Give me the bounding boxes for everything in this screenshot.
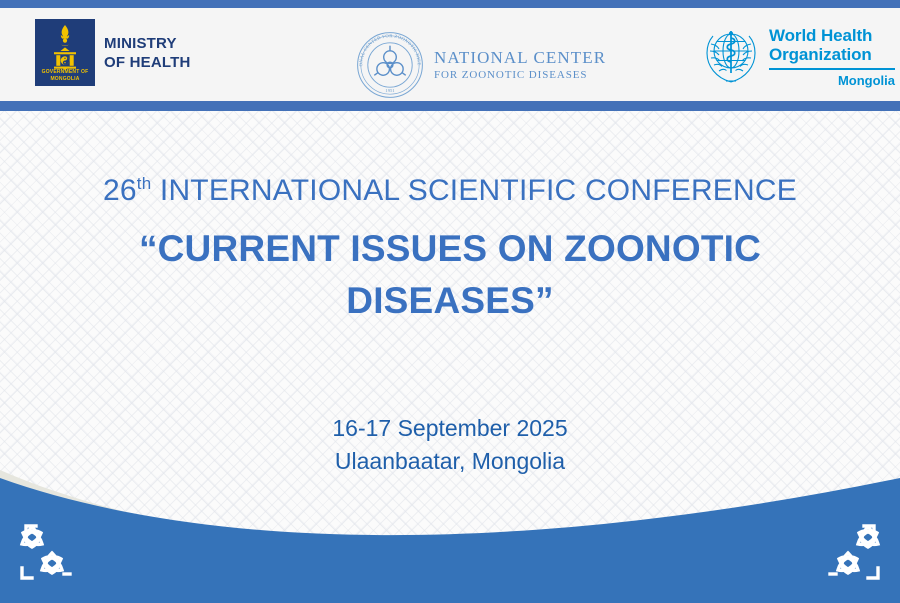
event-details-block: 16-17 September 2025 Ulaanbaatar, Mongol… — [0, 412, 900, 478]
who-country: Mongolia — [769, 73, 895, 88]
conference-number: 26 — [103, 174, 137, 207]
who-wordmark: World Health Organization Mongolia — [769, 24, 895, 88]
government-of-mongolia-emblem: GOVERNMENT OFMONGOLIA — [35, 19, 95, 86]
soyombo-icon — [35, 22, 95, 72]
who-mongolia-logo: World Health Organization Mongolia — [700, 24, 895, 88]
conference-theme: “CURRENT ISSUES ON ZOONOTIC DISEASES” — [0, 223, 900, 327]
triskelion-knot-icon — [14, 520, 94, 590]
conference-ordinal: th — [137, 174, 152, 193]
who-underline — [769, 68, 895, 70]
who-name: World Health Organization — [769, 26, 895, 64]
conference-label: INTERNATIONAL SCIENTIFIC CONFERENCE — [151, 174, 797, 207]
logo-row: GOVERNMENT OFMONGOLIA MINISTRY OF HEALTH… — [0, 8, 900, 101]
conference-heading: 26th INTERNATIONAL SCIENTIFIC CONFERENCE — [0, 170, 900, 212]
national-center-zoonotic-diseases-logo: NATIONAL CENTER FOR ZOONOTIC DISEASES 19… — [352, 28, 606, 102]
top-accent-bar — [0, 0, 900, 8]
conference-title-slide: GOVERNMENT OFMONGOLIA MINISTRY OF HEALTH… — [0, 0, 900, 603]
ministry-of-health-label: MINISTRY OF HEALTH — [104, 34, 191, 72]
zoonotic-seal-icon: NATIONAL CENTER FOR ZOONOTIC DISEASES 19… — [352, 28, 428, 102]
ministry-of-health-logo: GOVERNMENT OFMONGOLIA MINISTRY OF HEALTH — [35, 19, 191, 86]
header-separator-bar — [0, 101, 900, 111]
event-dates: 16-17 September 2025 — [0, 412, 900, 445]
emblem-caption: GOVERNMENT OFMONGOLIA — [35, 69, 95, 83]
ornament-bottom-left — [14, 520, 94, 595]
event-location: Ulaanbaatar, Mongolia — [0, 445, 900, 478]
triskelion-knot-icon — [806, 520, 886, 590]
ornament-bottom-right — [806, 520, 886, 595]
national-center-label: NATIONAL CENTER FOR ZOONOTIC DISEASES — [434, 48, 606, 82]
svg-text:1951: 1951 — [385, 88, 395, 93]
national-center-line1: NATIONAL CENTER — [434, 48, 606, 68]
title-block: 26th INTERNATIONAL SCIENTIFIC CONFERENCE… — [0, 170, 900, 327]
national-center-line2: FOR ZOONOTIC DISEASES — [434, 68, 606, 82]
who-emblem-icon — [700, 24, 762, 86]
